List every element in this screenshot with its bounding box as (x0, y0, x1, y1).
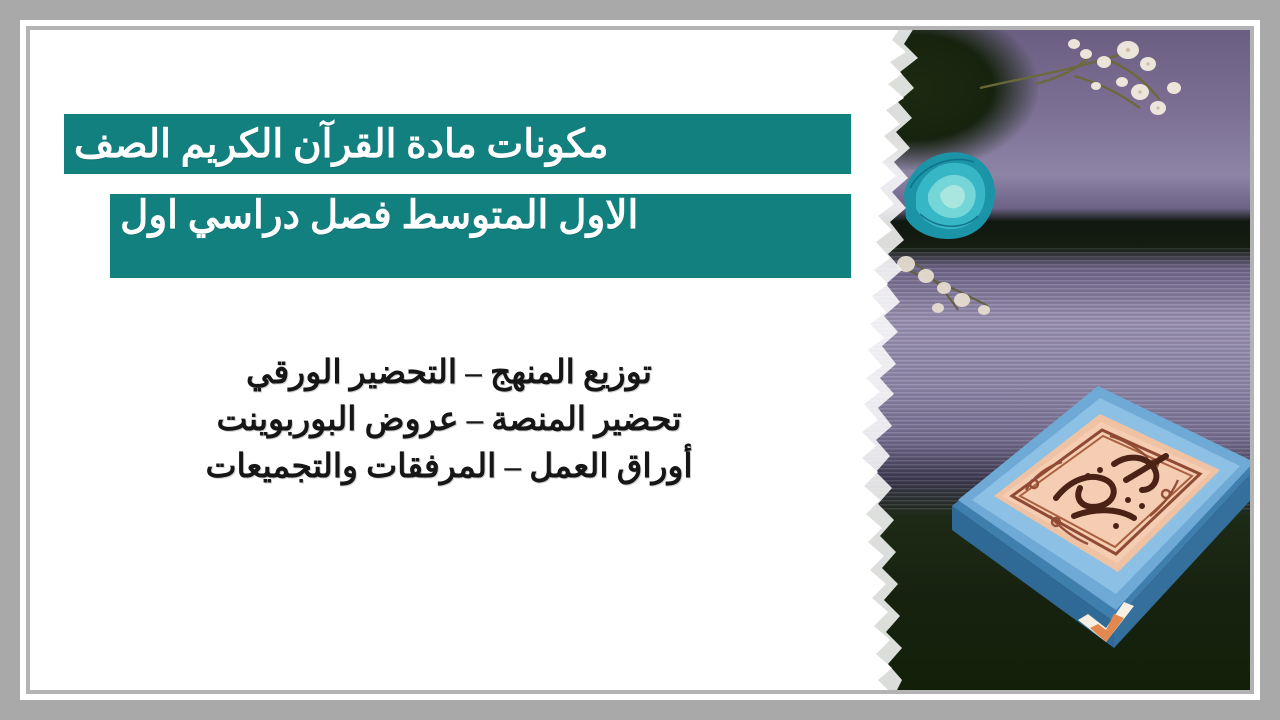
slide-root: مكونات مادة القرآن الكريم الصف الاول الم… (0, 0, 1280, 720)
blossom-sprig-icon (978, 30, 1188, 160)
slide-canvas: مكونات مادة القرآن الكريم الصف الاول الم… (30, 30, 1250, 690)
title-block: مكونات مادة القرآن الكريم الصف الاول الم… (30, 30, 858, 690)
blue-rose-icon (896, 142, 1006, 247)
body-line-2: تحضير المنصة – عروض البوربوينت (54, 397, 844, 444)
body-line-3: أوراق العمل – المرفقات والتجميعات (54, 444, 844, 491)
body-line-1: توزيع المنهج – التحضير الورقي (54, 350, 844, 397)
body-text-block: توزيع المنهج – التحضير الورقي تحضير المن… (54, 350, 844, 491)
quran-book-icon (928, 330, 1250, 670)
lower-blossom-sprig-icon (892, 248, 1022, 326)
quran-photo (858, 30, 1250, 690)
title-line-2: الاول المتوسط فصل دراسي اول (110, 194, 851, 278)
title-line-1: مكونات مادة القرآن الكريم الصف (64, 114, 851, 174)
